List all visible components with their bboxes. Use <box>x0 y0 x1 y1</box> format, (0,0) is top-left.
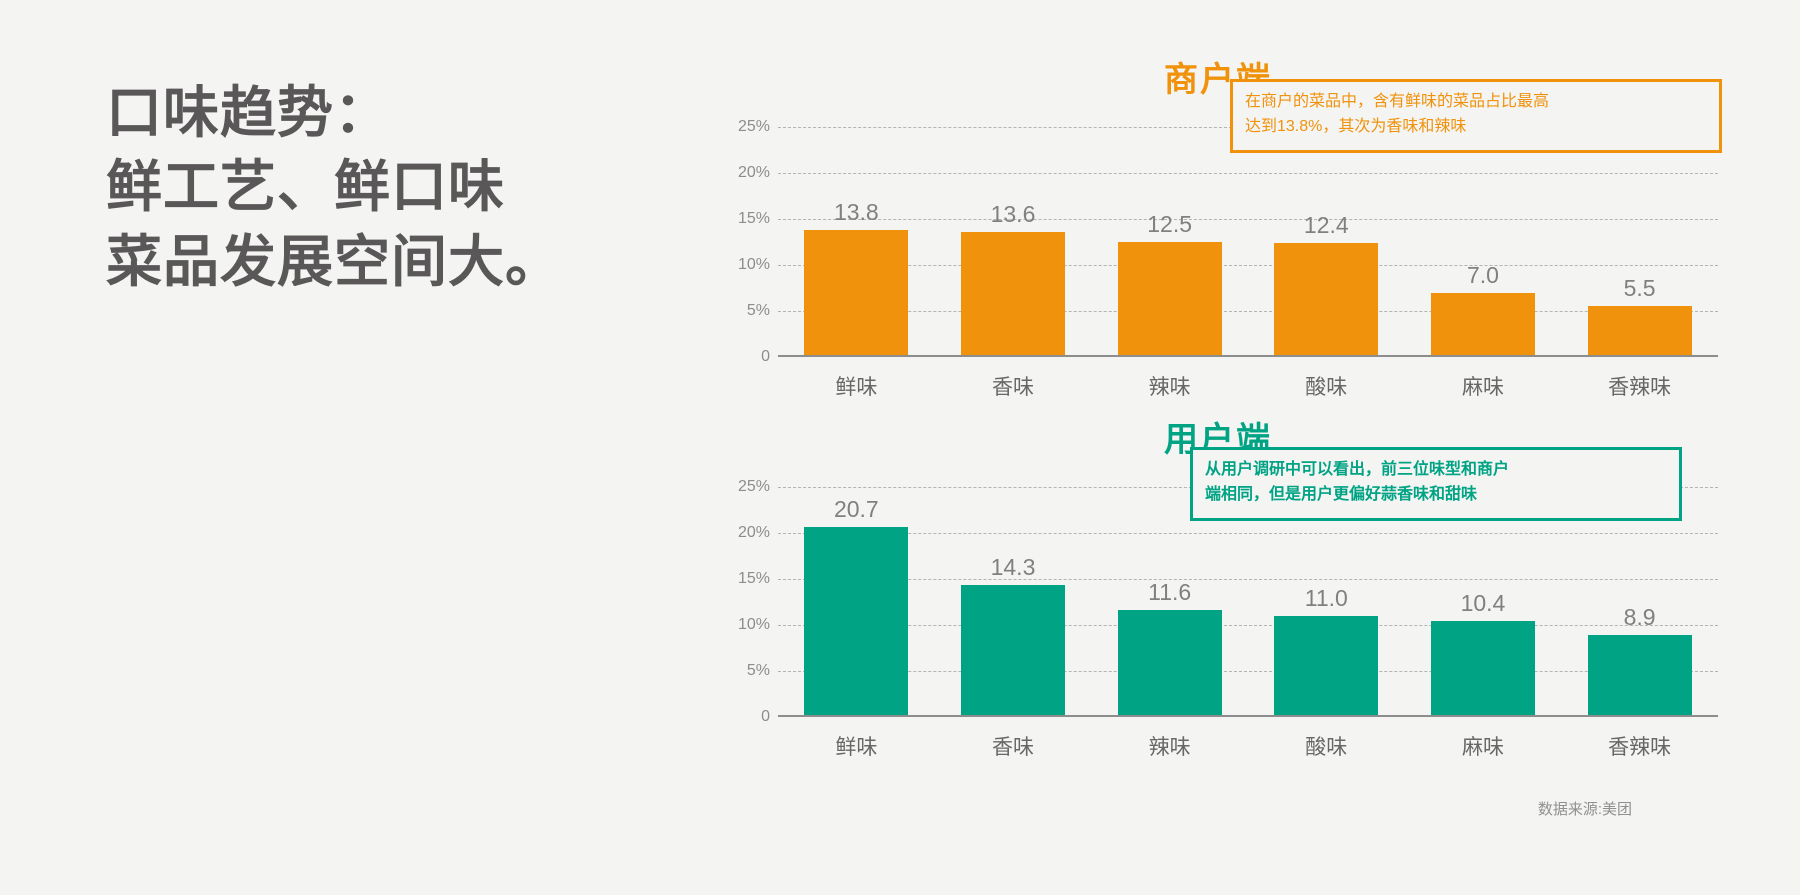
y-axis-tick-label: 5% <box>747 302 770 320</box>
headline-line-1: 口味趋势： <box>106 76 626 150</box>
bar <box>804 527 908 717</box>
bar <box>1431 621 1535 717</box>
callout-user-line-1: 从用户调研中可以看出，前三位味型和商户 <box>1205 458 1667 483</box>
chart-user-y-axis: 25%20%15%10%5%0 <box>718 487 770 717</box>
x-axis-category-label: 辣味 <box>1118 731 1222 761</box>
bar-group: 8.9 <box>1588 487 1692 717</box>
y-axis-tick-label: 25% <box>738 118 770 136</box>
bar-group: 7.0 <box>1431 127 1535 357</box>
x-axis-category-label: 麻味 <box>1431 731 1535 761</box>
bar-group: 14.3 <box>961 487 1065 717</box>
x-axis-category-label: 麻味 <box>1431 371 1535 401</box>
chart-merchant-callout: 在商户的菜品中，含有鲜味的菜品占比最高 达到13.8%，其次为香味和辣味 <box>1230 79 1722 153</box>
bar-value-label: 11.0 <box>1305 585 1348 612</box>
bar <box>961 585 1065 717</box>
y-axis-tick-label: 20% <box>738 524 770 542</box>
bar-group: 11.6 <box>1118 487 1222 717</box>
chart-merchant-plot: 25%20%15%10%5%0 13.813.612.512.47.05.5 在… <box>778 127 1718 357</box>
bar-value-label: 20.7 <box>834 496 879 523</box>
bar <box>1274 616 1378 717</box>
chart-merchant-baseline <box>778 355 1718 357</box>
callout-merchant-line-1: 在商户的菜品中，含有鲜味的菜品占比最高 <box>1245 90 1707 115</box>
bar <box>1118 610 1222 717</box>
y-axis-tick-label: 15% <box>738 210 770 228</box>
bar <box>1274 243 1378 357</box>
x-axis-category-label: 香味 <box>961 371 1065 401</box>
x-axis-category-label: 酸味 <box>1274 371 1378 401</box>
x-axis-category-label: 酸味 <box>1274 731 1378 761</box>
y-axis-tick-label: 10% <box>738 616 770 634</box>
chart-user-bars: 20.714.311.611.010.48.9 <box>778 487 1718 717</box>
bar-value-label: 10.4 <box>1461 590 1506 617</box>
bar-group: 13.8 <box>804 127 908 357</box>
bar <box>1588 306 1692 357</box>
chart-user-baseline <box>778 715 1718 717</box>
bar-value-label: 11.6 <box>1148 579 1191 606</box>
bar-group: 10.4 <box>1431 487 1535 717</box>
y-axis-tick-label: 0 <box>761 708 770 726</box>
x-axis-category-label: 鲜味 <box>804 371 908 401</box>
y-axis-tick-label: 15% <box>738 570 770 588</box>
headline-line-2: 鲜工艺、鲜口味 <box>106 150 626 224</box>
chart-merchant-y-axis: 25%20%15%10%5%0 <box>718 127 770 357</box>
page-title: 口味趋势： 鲜工艺、鲜口味 菜品发展空间大。 <box>106 76 626 299</box>
chart-user-callout: 从用户调研中可以看出，前三位味型和商户 端相同，但是用户更偏好蒜香味和甜味 <box>1190 447 1682 521</box>
chart-user-plot: 25%20%15%10%5%0 20.714.311.611.010.48.9 … <box>778 487 1718 717</box>
x-axis-category-label: 鲜味 <box>804 731 908 761</box>
bar-group: 5.5 <box>1588 127 1692 357</box>
bar <box>1588 635 1692 717</box>
x-axis-category-label: 香辣味 <box>1588 371 1692 401</box>
callout-user-line-2: 端相同，但是用户更偏好蒜香味和甜味 <box>1205 483 1667 508</box>
bar-value-label: 12.5 <box>1147 211 1192 238</box>
bar <box>804 230 908 357</box>
y-axis-tick-label: 25% <box>738 478 770 496</box>
y-axis-tick-label: 20% <box>738 164 770 182</box>
source-note: 数据来源:美团 <box>1538 798 1632 819</box>
bar-value-label: 8.9 <box>1624 604 1656 631</box>
bar-group: 13.6 <box>961 127 1065 357</box>
bar-value-label: 12.4 <box>1304 212 1349 239</box>
chart-user-x-axis: 鲜味香味辣味酸味麻味香辣味 <box>778 717 1718 761</box>
chart-merchant-x-axis: 鲜味香味辣味酸味麻味香辣味 <box>778 357 1718 401</box>
bar-value-label: 7.0 <box>1467 262 1499 289</box>
bar <box>1431 293 1535 357</box>
chart-merchant: 商户端 25%20%15%10%5%0 13.813.612.512.47.05… <box>718 52 1718 401</box>
bar-group: 12.4 <box>1274 127 1378 357</box>
bar-group: 20.7 <box>804 487 908 717</box>
x-axis-category-label: 香辣味 <box>1588 731 1692 761</box>
x-axis-category-label: 辣味 <box>1118 371 1222 401</box>
y-axis-tick-label: 0 <box>761 348 770 366</box>
bar-value-label: 13.6 <box>991 201 1036 228</box>
bar-value-label: 5.5 <box>1624 275 1656 302</box>
bar-group: 12.5 <box>1118 127 1222 357</box>
y-axis-tick-label: 5% <box>747 662 770 680</box>
chart-user: 用户端 25%20%15%10%5%0 20.714.311.611.010.4… <box>718 412 1718 761</box>
bar-group: 11.0 <box>1274 487 1378 717</box>
bar-value-label: 14.3 <box>991 554 1036 581</box>
bar <box>961 232 1065 357</box>
y-axis-tick-label: 10% <box>738 256 770 274</box>
chart-merchant-bars: 13.813.612.512.47.05.5 <box>778 127 1718 357</box>
bar <box>1118 242 1222 357</box>
bar-value-label: 13.8 <box>834 199 879 226</box>
callout-merchant-line-2: 达到13.8%，其次为香味和辣味 <box>1245 115 1707 140</box>
x-axis-category-label: 香味 <box>961 731 1065 761</box>
headline-line-3: 菜品发展空间大。 <box>106 225 626 299</box>
